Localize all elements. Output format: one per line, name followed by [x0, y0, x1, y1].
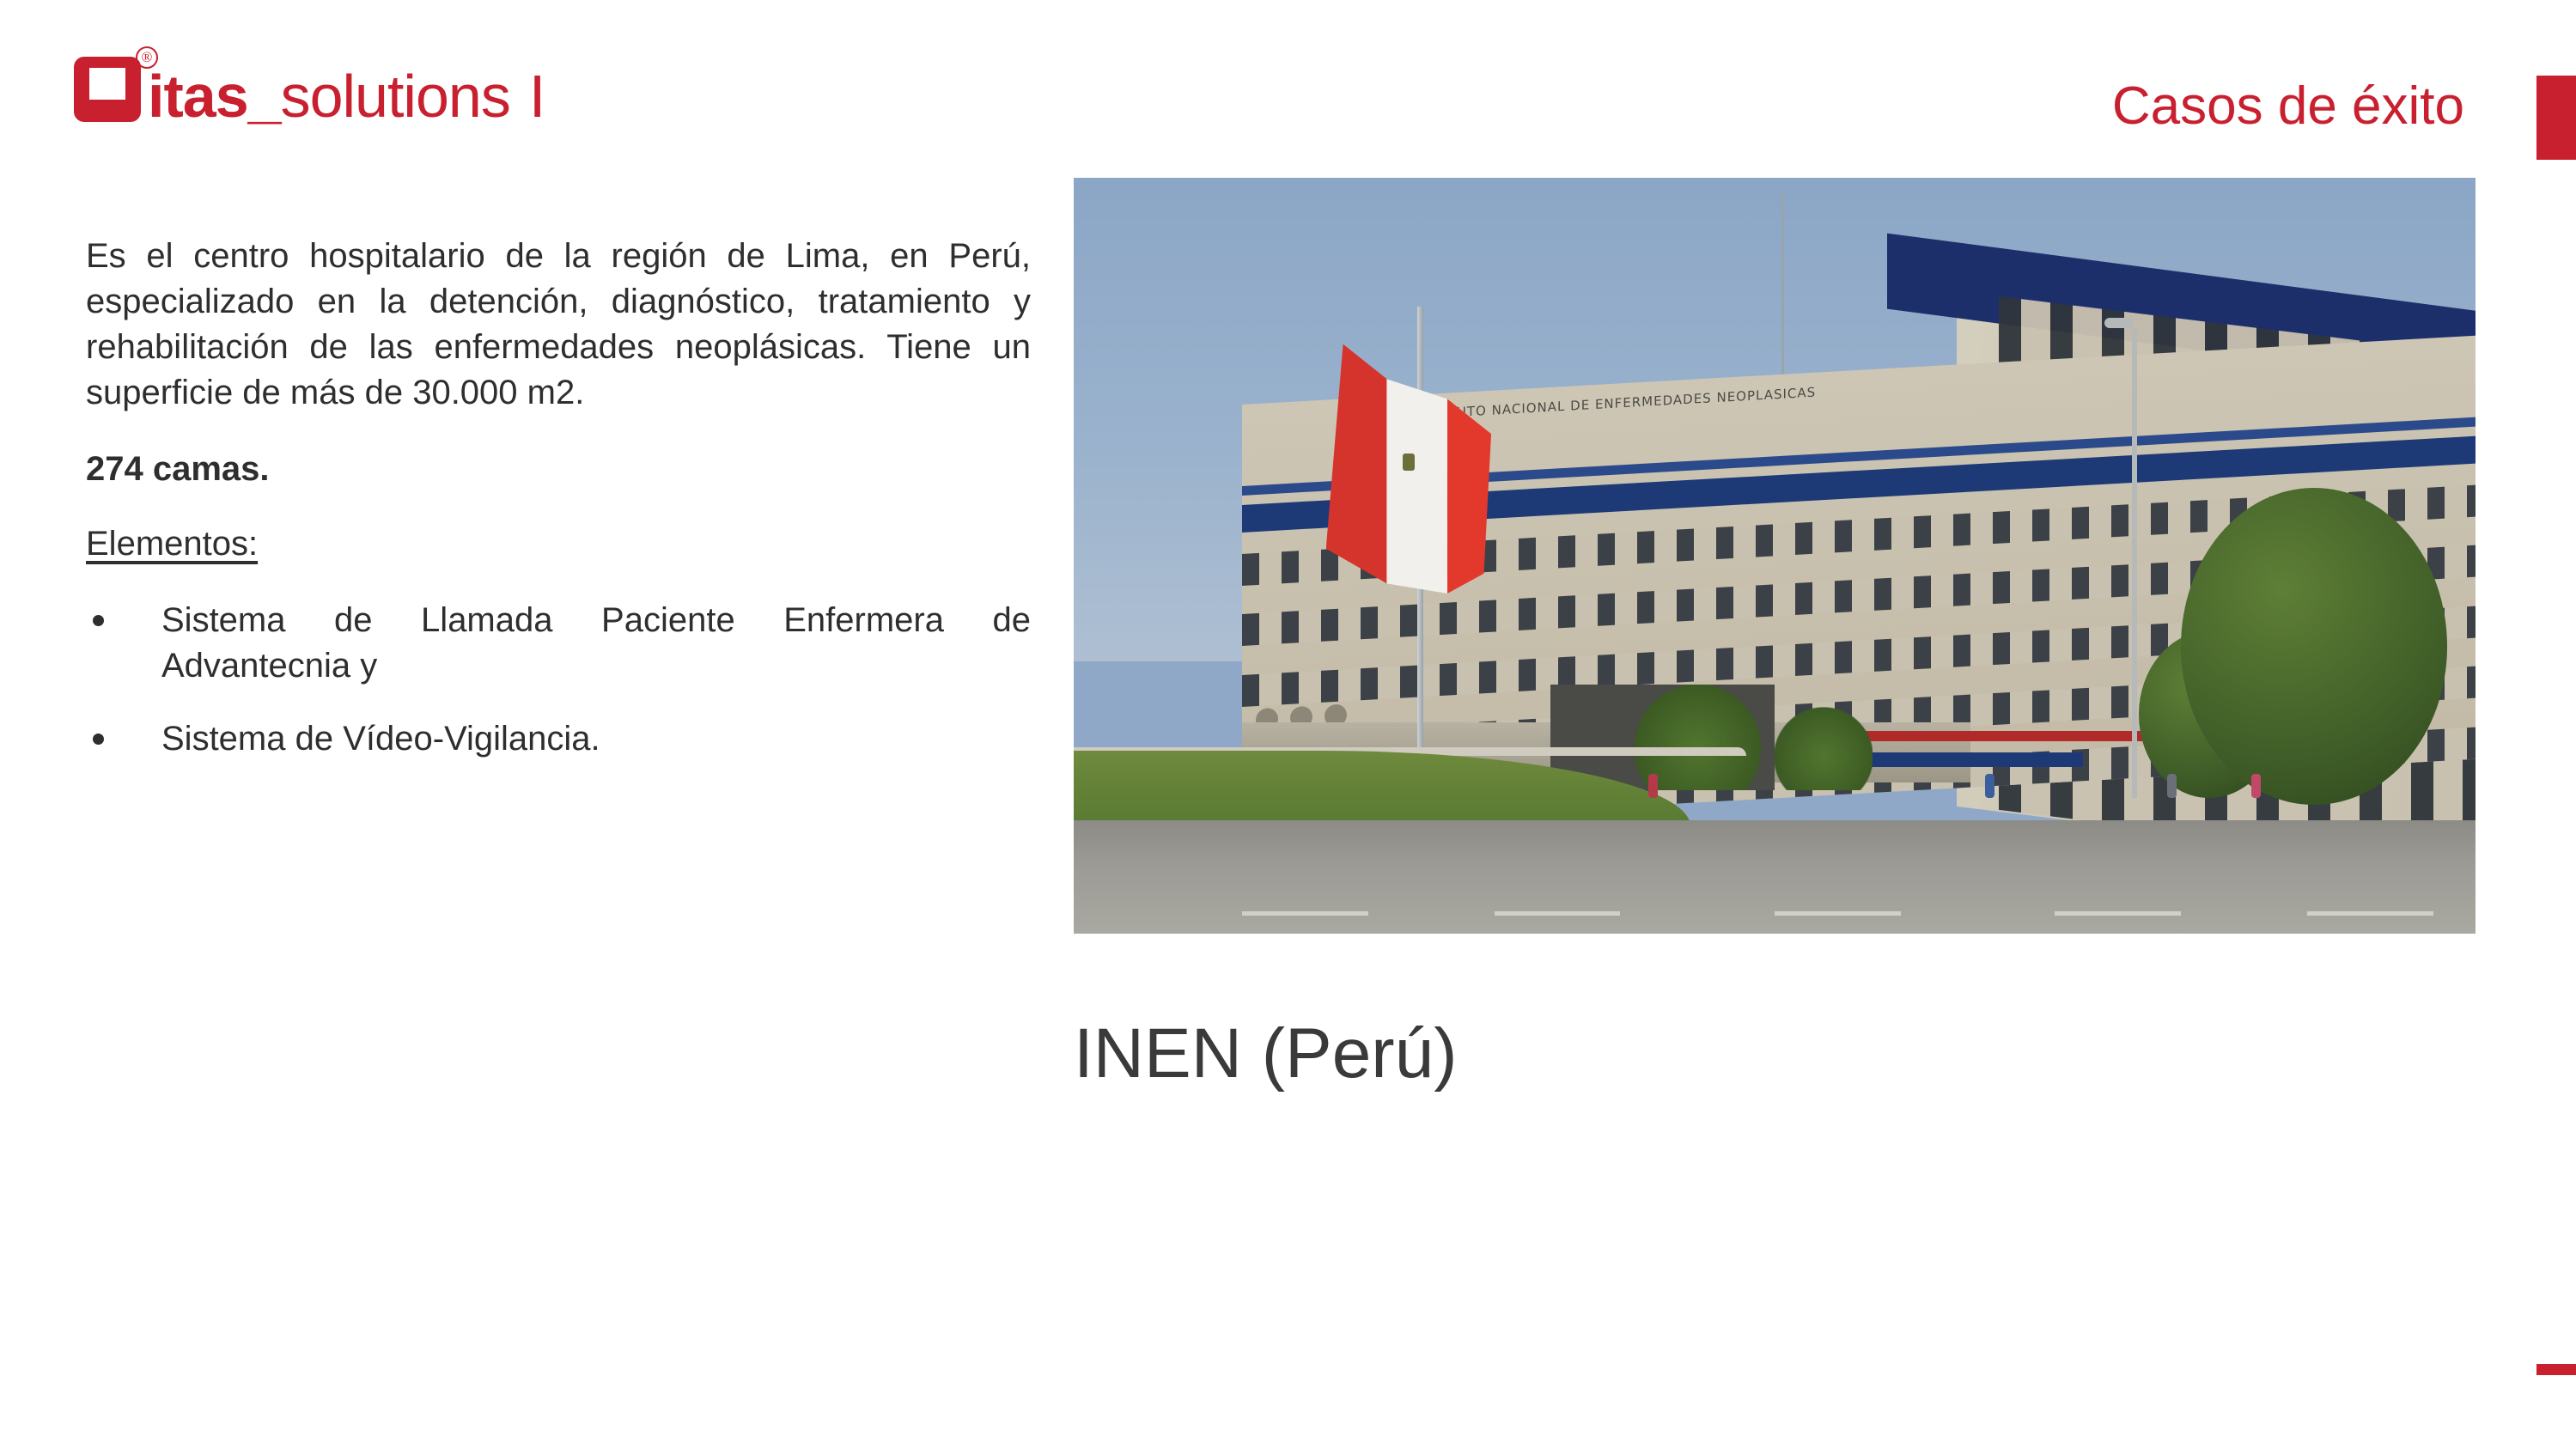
photo-caption: INEN (Perú)	[1074, 1014, 1458, 1094]
rounded-square-shape	[74, 57, 141, 122]
brand-wordmark: itas_solutionsI	[148, 65, 545, 127]
road-region	[1074, 820, 2476, 934]
bullet-dot-icon	[93, 615, 104, 626]
road-marking	[2307, 911, 2433, 916]
header-accent-bar	[2536, 76, 2576, 160]
flag-stripe-red-left	[1326, 344, 1387, 594]
tree	[2181, 488, 2447, 806]
elements-heading: Elementos:	[86, 521, 1031, 567]
brand-word-underscore: _	[248, 63, 281, 130]
person-figure	[2251, 774, 2261, 798]
flag-stripe-white	[1386, 344, 1447, 594]
list-item: Sistema de Llamada Paciente Enfermera de…	[86, 598, 1031, 689]
page-title: Casos de éxito	[2112, 79, 2464, 134]
person-figure	[2167, 774, 2177, 798]
footer-accent-bar	[2536, 1364, 2576, 1375]
bed-count-line: 274 camas.	[86, 447, 1031, 492]
list-item-label: Sistema de Llamada Paciente Enfermera de…	[161, 601, 1031, 685]
peru-flag-icon	[1326, 344, 1508, 594]
slide-root: ® itas_solutionsI Casos de éxito Es el c…	[0, 0, 2576, 1449]
brand-word-bar: I	[529, 63, 545, 130]
road-marking	[1495, 911, 1621, 916]
hospital-photo: INSTITUTO NACIONAL DE ENFERMEDADES NEOPL…	[1074, 178, 2476, 934]
flag-coat-of-arms	[1403, 454, 1415, 471]
brand-word-itas: itas	[148, 63, 248, 130]
road-marking	[1775, 911, 1901, 916]
elements-list: Sistema de Llamada Paciente Enfermera de…	[86, 598, 1031, 762]
brand-logo[interactable]: ® itas_solutionsI	[74, 45, 545, 122]
content-column: Es el centro hospitalario de la región d…	[86, 234, 1031, 789]
street-lamp-pole	[2132, 329, 2137, 798]
bullet-dot-icon	[93, 734, 104, 745]
street-lamp-head-icon	[2104, 318, 2134, 328]
list-item-label: Sistema de Vídeo-Vigilancia.	[161, 720, 600, 758]
road-marking	[2055, 911, 2181, 916]
road-marking	[1242, 911, 1368, 916]
description-paragraph: Es el centro hospitalario de la región d…	[86, 234, 1031, 416]
palm-shrub	[1775, 707, 1873, 790]
person-figure	[1648, 774, 1658, 798]
list-item: Sistema de Vídeo-Vigilancia.	[86, 716, 1031, 762]
flag-stripe-red-right	[1447, 344, 1508, 594]
person-figure	[1985, 774, 1994, 798]
photo-canvas: INSTITUTO NACIONAL DE ENFERMEDADES NEOPL…	[1074, 178, 2476, 934]
itas-logo-icon: ®	[74, 45, 143, 122]
brand-word-solutions: solutions	[281, 63, 510, 130]
